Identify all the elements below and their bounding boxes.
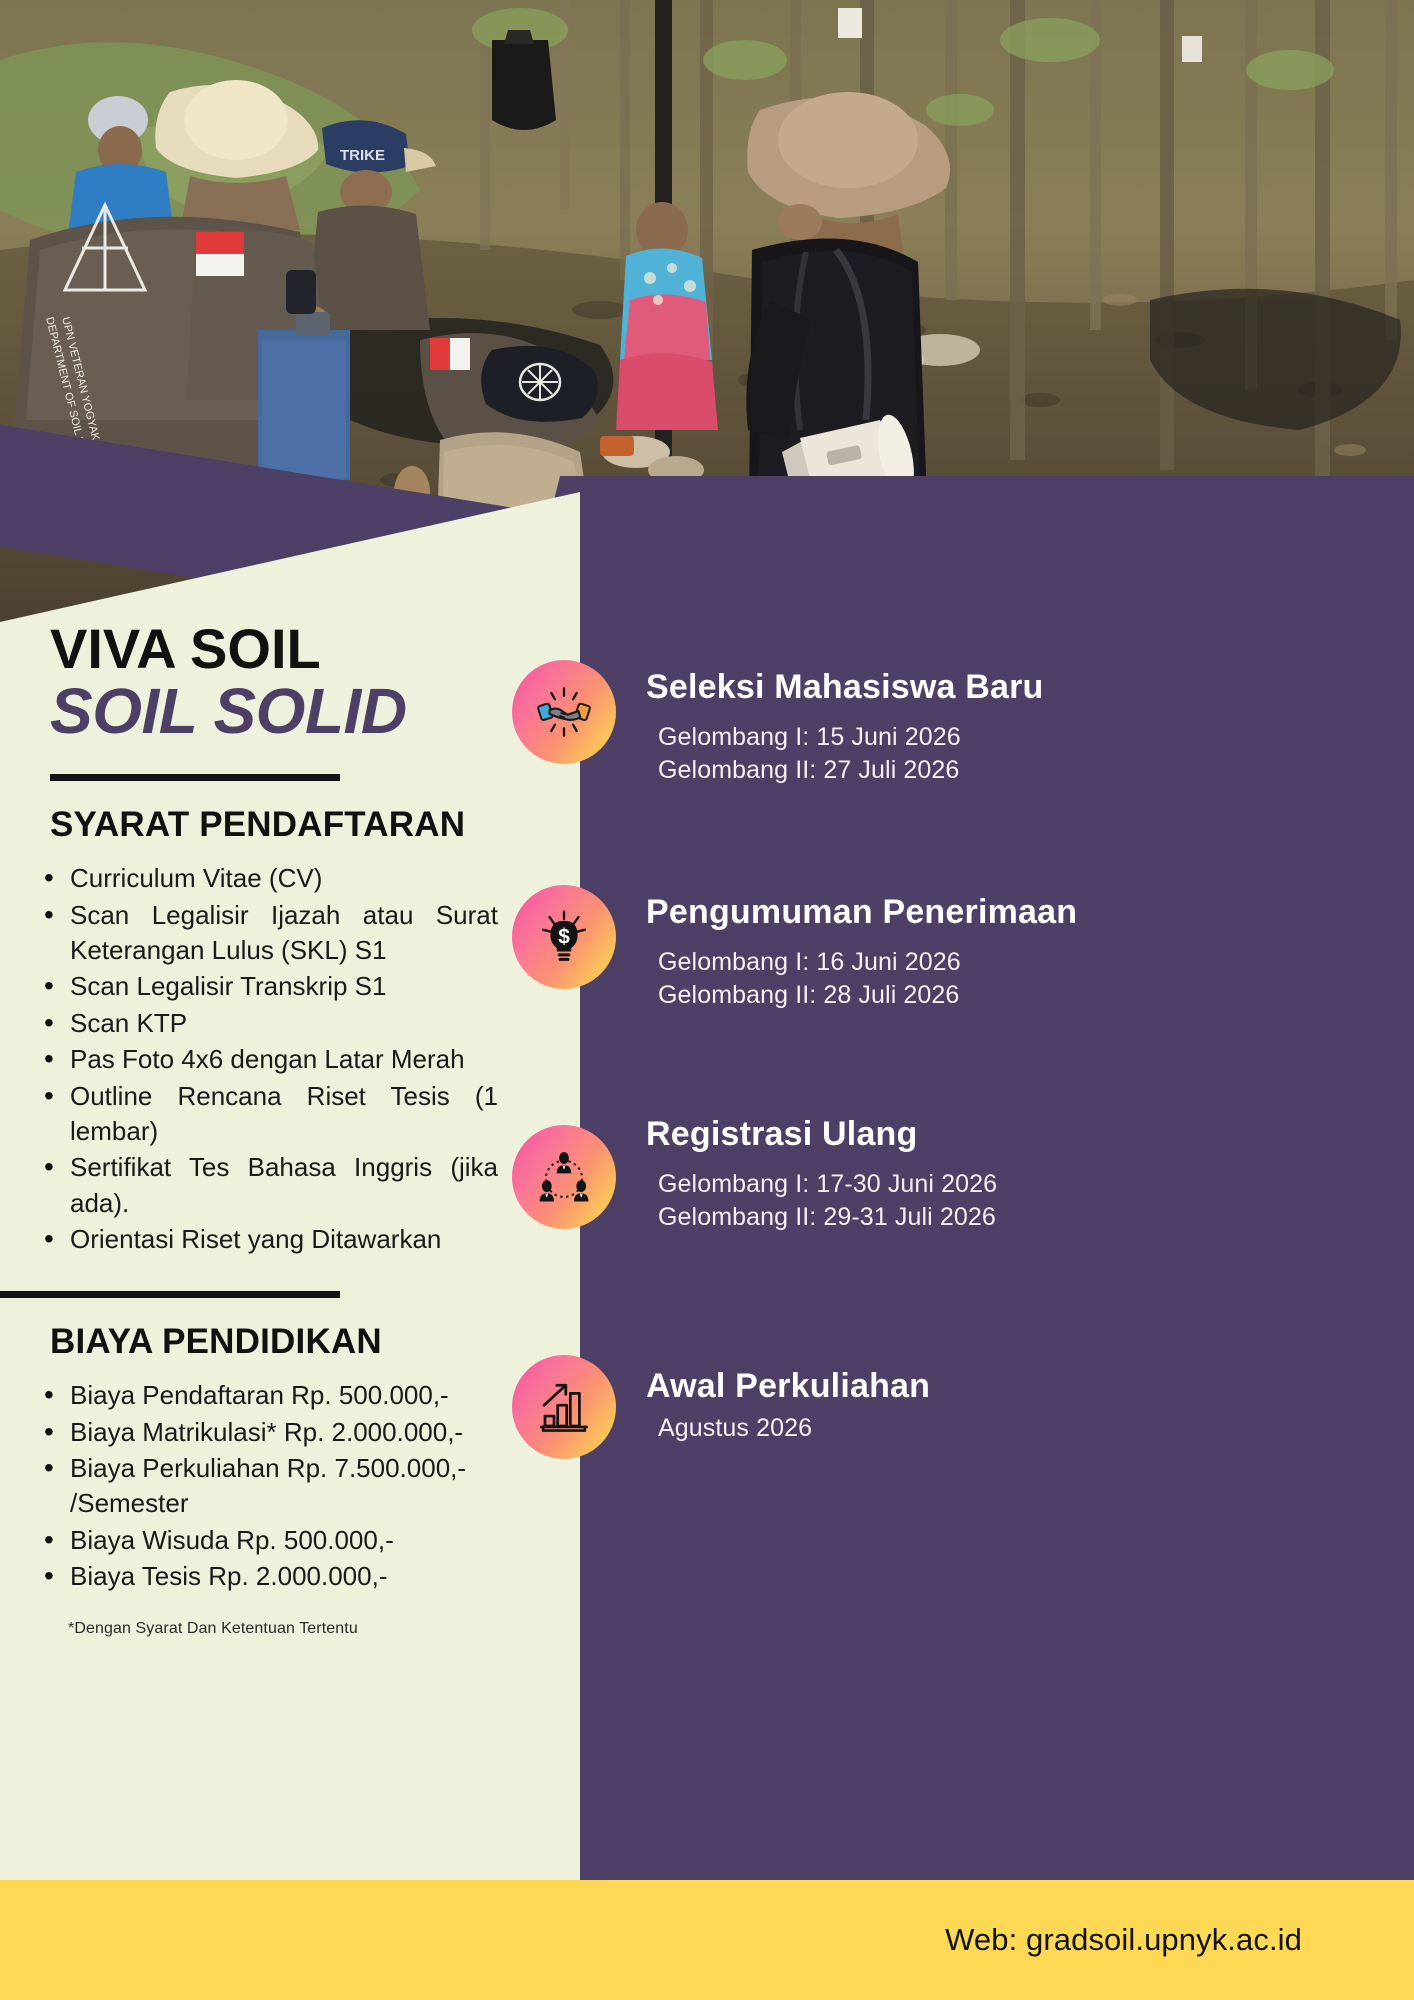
timeline-date-line: Gelombang I: 17-30 Juni 2026 <box>658 1168 1406 1201</box>
list-item: Pas Foto 4x6 dengan Latar Merah <box>38 1042 560 1077</box>
list-item: Biaya Wisuda Rp. 500.000,- <box>38 1523 560 1558</box>
bar-chart-growth-icon <box>512 1355 616 1459</box>
timeline-text: Registrasi Ulang Gelombang I: 17-30 Juni… <box>646 1115 1406 1234</box>
handshake-icon <box>512 660 616 764</box>
poster-title-line2: SOIL SOLID <box>50 679 560 744</box>
poster-title-line1: VIVA SOIL <box>50 620 560 677</box>
fees-heading: BIAYA PENDIDIKAN <box>0 1322 560 1362</box>
svg-text:$: $ <box>558 925 570 948</box>
timeline: Seleksi Mahasiswa Baru Gelombang I: 15 J… <box>556 480 1414 1880</box>
website-text: Web: gradsoil.upnyk.ac.id <box>945 1922 1302 1958</box>
timeline-title: Registrasi Ulang <box>646 1115 1406 1154</box>
list-item: Biaya Matrikulasi* Rp. 2.000.000,- <box>38 1415 560 1450</box>
timeline-dates: Gelombang I: 16 Juni 2026 Gelombang II: … <box>646 946 1406 1012</box>
left-content: VIVA SOIL SOIL SOLID SYARAT PENDAFTARAN … <box>0 620 560 1638</box>
footer-bar: Web: gradsoil.upnyk.ac.id <box>0 1880 1414 2000</box>
timeline-dates: Gelombang I: 15 Juni 2026 Gelombang II: … <box>646 721 1406 787</box>
timeline-date-line: Gelombang II: 29-31 Juli 2026 <box>658 1201 1406 1234</box>
fees-list: Biaya Pendaftaran Rp. 500.000,- Biaya Ma… <box>0 1378 560 1594</box>
requirements-heading: SYARAT PENDAFTARAN <box>0 805 560 845</box>
timeline-text: Seleksi Mahasiswa Baru Gelombang I: 15 J… <box>646 668 1406 787</box>
poster-root: DEPARTMENT OF SOIL SCIENCE UPN VETERAN Y… <box>0 0 1414 2000</box>
list-item: Sertifikat Tes Bahasa Inggris (jika ada)… <box>38 1150 560 1221</box>
timeline-date-line: Gelombang II: 27 Juli 2026 <box>658 754 1406 787</box>
title-block: VIVA SOIL SOIL SOLID <box>0 620 560 781</box>
timeline-date-line: Gelombang I: 15 Juni 2026 <box>658 721 1406 754</box>
timeline-date-line: Agustus 2026 <box>658 1412 1406 1445</box>
timeline-title: Pengumuman Penerimaan <box>646 893 1406 932</box>
fees-divider <box>0 1291 340 1298</box>
timeline-dates: Agustus 2026 <box>646 1412 1406 1445</box>
list-item: Orientasi Riset yang Ditawarkan <box>38 1222 560 1257</box>
list-item: Curriculum Vitae (CV) <box>38 861 560 896</box>
timeline-text: Pengumuman Penerimaan Gelombang I: 16 Ju… <box>646 893 1406 1012</box>
list-item: Biaya Perkuliahan Rp. 7.500.000,- /Semes… <box>38 1451 560 1522</box>
list-item: Biaya Tesis Rp. 2.000.000,- <box>38 1559 560 1594</box>
list-item: Biaya Pendaftaran Rp. 500.000,- <box>38 1378 560 1413</box>
timeline-date-line: Gelombang II: 28 Juli 2026 <box>658 979 1406 1012</box>
requirements-list: Curriculum Vitae (CV) Scan Legalisir Ija… <box>0 861 560 1257</box>
title-divider <box>50 774 340 781</box>
list-item: Outline Rencana Riset Tesis (1 lembar) <box>38 1079 560 1150</box>
list-item: Scan Legalisir Transkrip S1 <box>38 969 560 1004</box>
lightbulb-dollar-icon: $ <box>512 885 616 989</box>
list-item: Scan Legalisir Ijazah atau Surat Keteran… <box>38 898 560 969</box>
people-network-icon <box>512 1125 616 1229</box>
svg-text:TRIKE: TRIKE <box>340 147 385 164</box>
fees-footnote: *Dengan Syarat Dan Ketentuan Tertentu <box>0 1620 560 1638</box>
timeline-dates: Gelombang I: 17-30 Juni 2026 Gelombang I… <box>646 1168 1406 1234</box>
list-item: Scan KTP <box>38 1006 560 1041</box>
timeline-date-line: Gelombang I: 16 Juni 2026 <box>658 946 1406 979</box>
timeline-text: Awal Perkuliahan Agustus 2026 <box>646 1367 1406 1445</box>
timeline-title: Awal Perkuliahan <box>646 1367 1406 1406</box>
timeline-title: Seleksi Mahasiswa Baru <box>646 668 1406 707</box>
